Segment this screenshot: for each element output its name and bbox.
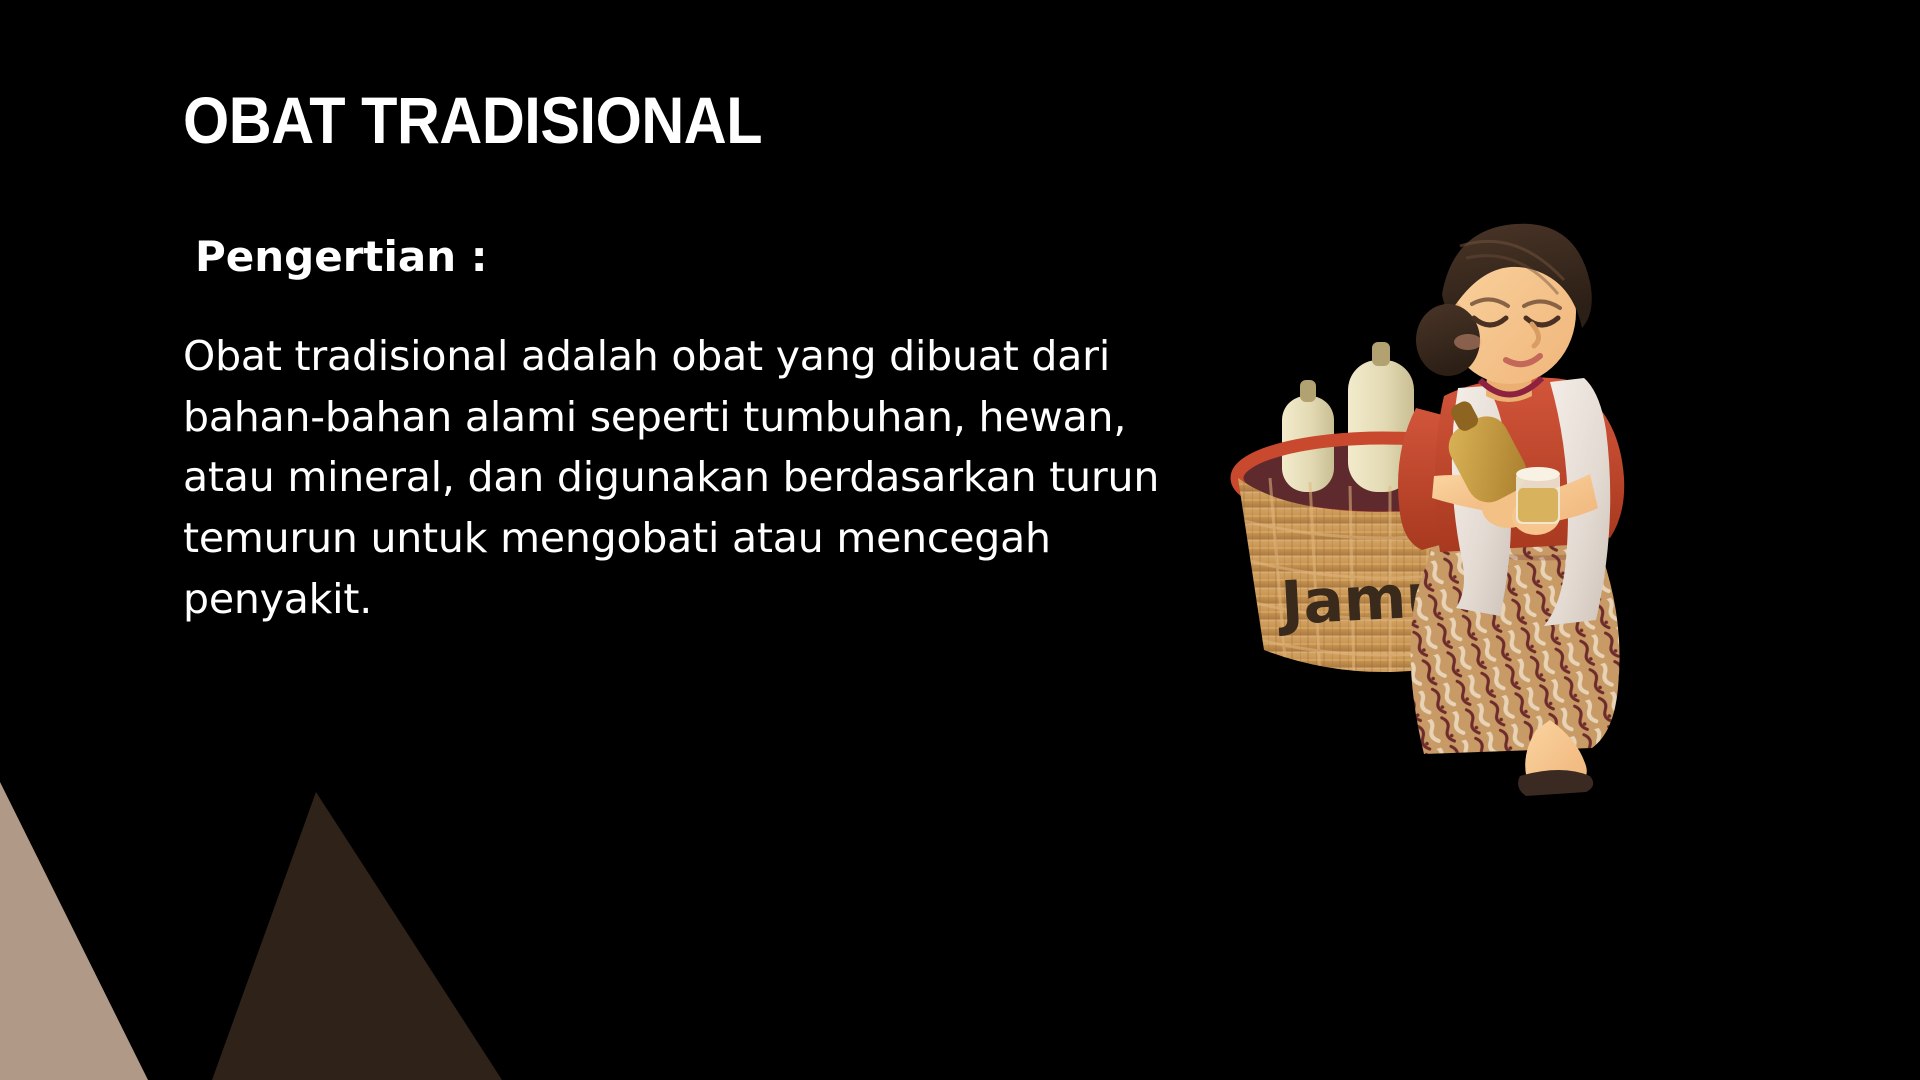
blush xyxy=(1454,334,1482,350)
section-subtitle: Pengertian : xyxy=(183,232,488,281)
dark-brown-triangle xyxy=(212,792,502,1080)
jamu-seller-illustration: Jamu xyxy=(1220,220,1780,860)
tan-triangle xyxy=(0,782,148,1080)
body-paragraph: Obat tradisional adalah obat yang dibuat… xyxy=(183,326,1193,629)
presentation-slide: OBAT TRADISIONAL Pengertian : Obat tradi… xyxy=(0,0,1920,1080)
jamu-glass xyxy=(1516,467,1560,524)
woman-figure xyxy=(1398,224,1624,796)
decorative-corner-shapes xyxy=(0,740,760,1080)
text-column: OBAT TRADISIONAL Pengertian : Obat tradi… xyxy=(183,86,1183,155)
page-title: OBAT TRADISIONAL xyxy=(183,86,1083,155)
sandal xyxy=(1518,770,1593,796)
